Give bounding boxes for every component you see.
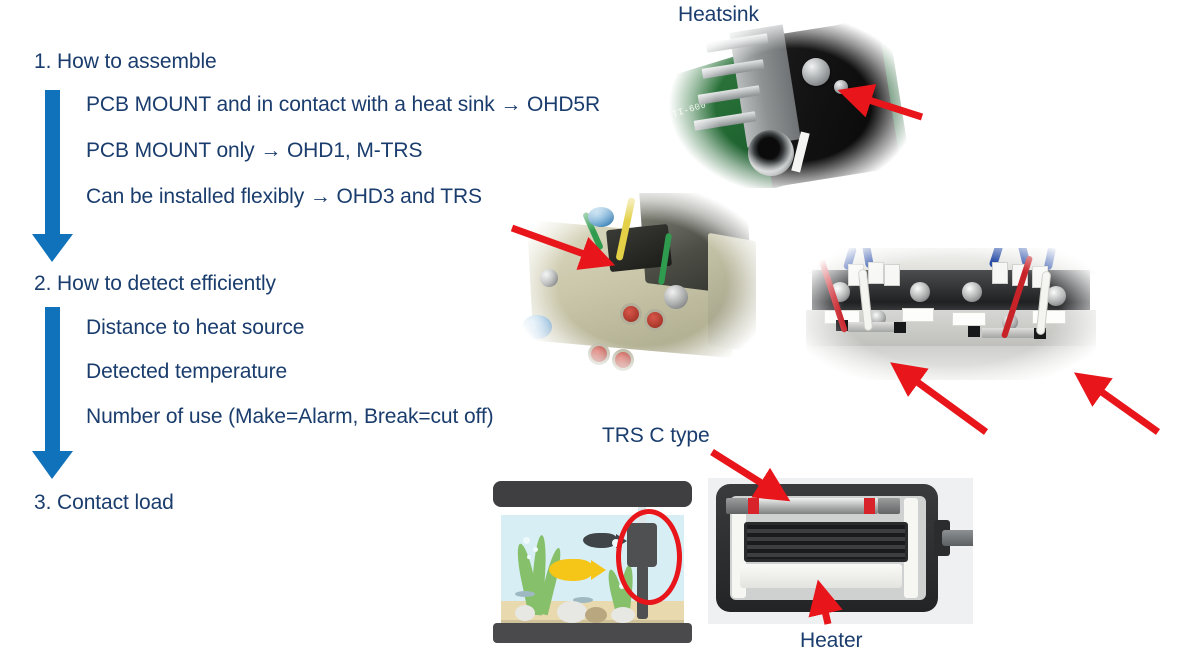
section-1-bullet-2: PCB MOUNT only → OHD1, M-TRS — [86, 139, 422, 163]
aquarium-with-heater-illustration — [487, 481, 698, 651]
heater-ceramic-bar — [740, 564, 902, 588]
small-fish — [515, 591, 535, 597]
terminal-block-sensors-photo — [806, 248, 1096, 380]
section-1-bullet-1: PCB MOUNT and in contact with a heat sin… — [86, 93, 600, 117]
heating-element-grill — [744, 522, 908, 562]
red-highlight-ellipse — [616, 509, 682, 605]
blue-down-arrow-2 — [32, 307, 73, 479]
photo-vignette — [806, 248, 1096, 380]
section-heading-3: 3. Contact load — [34, 491, 174, 515]
trs-c-type-sensor — [742, 498, 878, 514]
section-1-bullet-3: Can be installed flexibly → OHD3 and TRS — [86, 185, 482, 209]
pcb-with-heatsink-photo: TI-600 — [652, 22, 924, 188]
callout-heater: Heater — [800, 629, 862, 653]
slide-canvas: 1. How to assemble PCB MOUNT and in cont… — [0, 0, 1200, 659]
section-2-bullet-3: Number of use (Make=Alarm, Break=cut off… — [86, 405, 494, 429]
blue-down-arrow-1 — [32, 90, 73, 262]
transformer-assembly-photo — [512, 193, 772, 373]
power-cable — [942, 530, 973, 546]
bubble — [527, 555, 531, 559]
yellow-fish — [549, 559, 593, 581]
tank-hood — [493, 481, 692, 507]
aquarium-rock — [585, 607, 607, 623]
sensor-red-band — [748, 498, 759, 514]
bubble — [523, 537, 530, 544]
section-heading-2: 2. How to detect efficiently — [34, 272, 276, 296]
section-2-bullet-2: Detected temperature — [86, 360, 287, 384]
red-arrow-terminal-right — [1082, 378, 1158, 432]
sensor-red-band — [864, 498, 875, 514]
photo-vignette — [512, 193, 772, 373]
aquarium-rock — [611, 607, 635, 623]
callout-trs-c-type: TRS C type — [602, 424, 710, 448]
sensor-lead-cap — [726, 498, 748, 514]
section-2-bullet-1: Distance to heat source — [86, 316, 304, 340]
sensor-lead-cap — [878, 498, 900, 514]
section-heading-1: 1. How to assemble — [34, 50, 217, 74]
aquarium-rock — [515, 605, 535, 621]
trs-c-type-heater-module-photo — [708, 478, 973, 624]
tank-stand — [493, 623, 692, 643]
aquarium-rock — [557, 601, 587, 623]
photo-vignette — [652, 22, 924, 188]
bubble — [533, 547, 538, 552]
